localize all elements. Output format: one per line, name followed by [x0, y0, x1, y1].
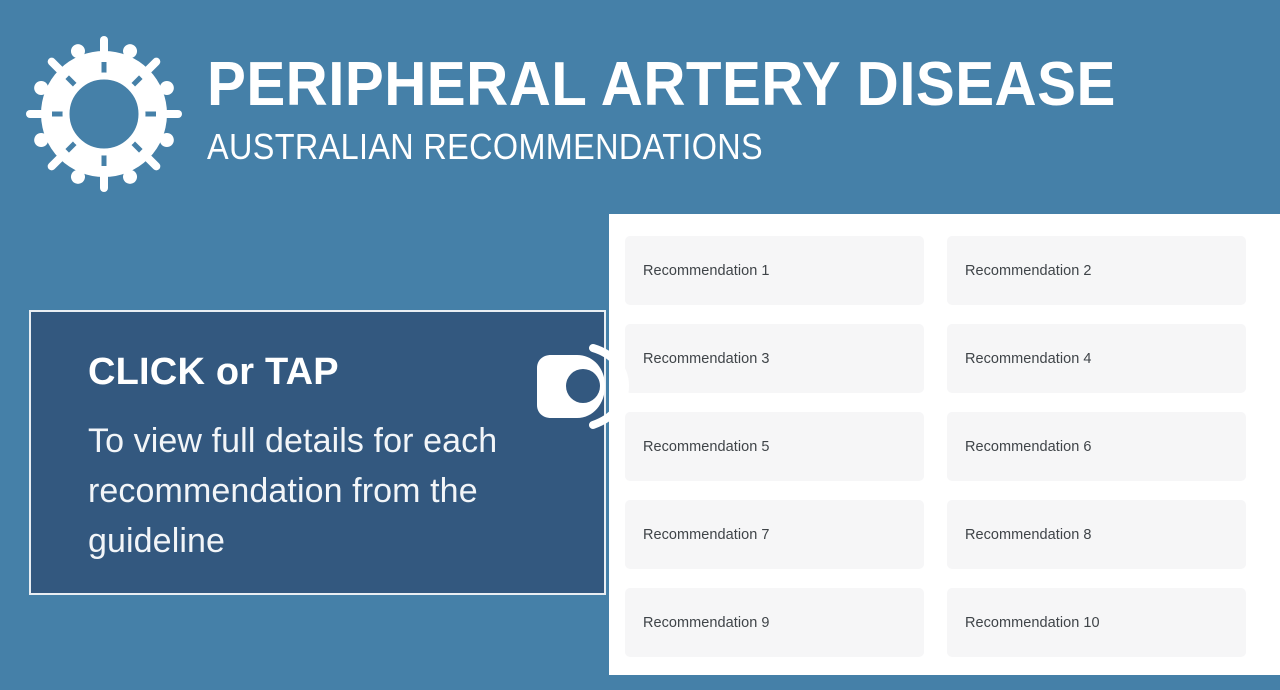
page-header: PERIPHERAL ARTERY DISEASE AUSTRALIAN REC…: [0, 0, 1280, 210]
recommendation-label: Recommendation 2: [965, 262, 1092, 280]
recommendation-card[interactable]: Recommendation 5: [625, 412, 924, 481]
recommendation-card[interactable]: Recommendation 10: [947, 588, 1246, 657]
recommendation-label: Recommendation 8: [965, 526, 1092, 544]
sun-radial-logo-icon: [14, 24, 194, 204]
recommendation-card[interactable]: Recommendation 2: [947, 236, 1246, 305]
recommendation-label: Recommendation 3: [643, 350, 770, 368]
recommendation-card[interactable]: Recommendation 9: [625, 588, 924, 657]
recommendations-panel: Recommendation 1 Recommendation 2 Recomm…: [609, 214, 1280, 675]
page-root: PERIPHERAL ARTERY DISEASE AUSTRALIAN REC…: [0, 0, 1280, 690]
recommendation-label: Recommendation 1: [643, 262, 770, 280]
recommendation-label: Recommendation 4: [965, 350, 1092, 368]
recommendation-card[interactable]: Recommendation 8: [947, 500, 1246, 569]
page-subtitle: AUSTRALIAN RECOMMENDATIONS: [207, 127, 1143, 167]
tap-gesture-icon: [521, 340, 631, 436]
page-title: PERIPHERAL ARTERY DISEASE: [207, 52, 1185, 118]
recommendation-label: Recommendation 10: [965, 614, 1100, 632]
recommendation-card[interactable]: Recommendation 3: [625, 324, 924, 393]
recommendation-card[interactable]: Recommendation 1: [625, 236, 924, 305]
callout-body-text: To view full details for each recommenda…: [88, 416, 538, 566]
recommendation-label: Recommendation 7: [643, 526, 770, 544]
recommendation-label: Recommendation 9: [643, 614, 770, 632]
recommendation-label: Recommendation 6: [965, 438, 1092, 456]
callout-heading: CLICK or TAP: [88, 351, 339, 394]
title-block: PERIPHERAL ARTERY DISEASE AUSTRALIAN REC…: [207, 52, 1247, 167]
recommendation-card[interactable]: Recommendation 6: [947, 412, 1246, 481]
recommendation-card[interactable]: Recommendation 7: [625, 500, 924, 569]
recommendation-label: Recommendation 5: [643, 438, 770, 456]
click-or-tap-callout: CLICK or TAP To view full details for ea…: [29, 310, 606, 595]
recommendation-card[interactable]: Recommendation 4: [947, 324, 1246, 393]
recommendations-grid: Recommendation 1 Recommendation 2 Recomm…: [625, 236, 1264, 657]
